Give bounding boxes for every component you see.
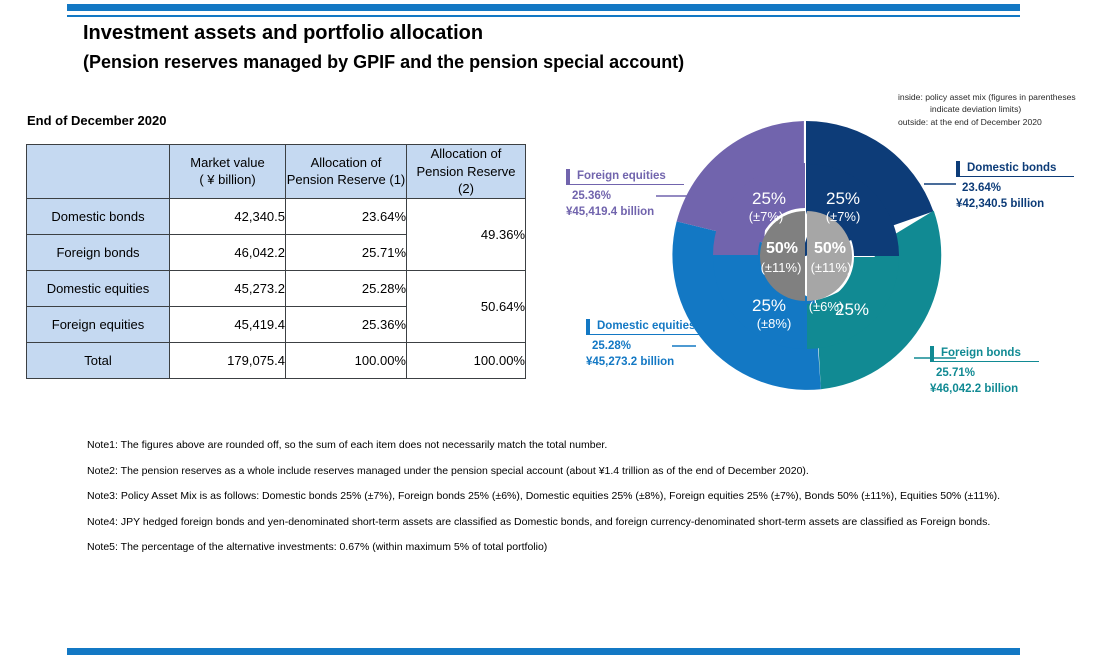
row-label-domestic-equities: Domestic equities	[27, 270, 170, 306]
notes-block: Note1: The figures above are rounded off…	[87, 440, 1000, 568]
note-4: Note4: JPY hedged foreign bonds and yen-…	[87, 517, 1000, 528]
inner-label-equities-dev: (±11%)	[761, 260, 802, 275]
cell-alloc1-foreign-equities: 25.36%	[286, 306, 407, 342]
middle-label-domestic-bonds-pct: 25%	[826, 189, 860, 208]
inner-label-bonds-dev: (±11%)	[811, 260, 852, 275]
table-row-total: Total 179,075.4 100.00% 100.00%	[27, 342, 526, 378]
column-header-allocation-1-line1: Allocation of	[286, 154, 406, 172]
callout-domestic-bonds-amount: ¥42,340.5 billion	[956, 198, 1102, 210]
table-row: Domestic equities 45,273.2 25.28% 50.64%	[27, 270, 526, 306]
column-header-blank	[27, 145, 170, 199]
callout-domestic-bonds-title: Domestic bonds	[960, 161, 1056, 176]
callout-foreign-equities-amount: ¥45,419.4 billion	[566, 206, 706, 218]
column-header-allocation-2: Allocation of Pension Reserve (2)	[407, 145, 526, 199]
page-subtitle: (Pension reserves managed by GPIF and th…	[83, 52, 684, 73]
callout-foreign-bonds: Foreign bonds 25.71% ¥46,042.2 billion	[930, 343, 1080, 395]
column-header-allocation-2-line2: Pension Reserve (2)	[407, 163, 525, 198]
inner-label-bonds-pct: 50%	[814, 240, 846, 257]
middle-label-foreign-equities-dev: (±7%)	[749, 209, 784, 224]
callout-domestic-equities: Domestic equities 25.28% ¥45,273.2 billi…	[586, 316, 741, 368]
callout-domestic-equities-title-box: Domestic equities	[586, 319, 713, 335]
column-header-market-value-line1: Market value	[170, 154, 285, 172]
callout-foreign-bonds-title: Foreign bonds	[934, 346, 1021, 361]
note-5: Note5: The percentage of the alternative…	[87, 542, 1000, 553]
callout-domestic-bonds: Domestic bonds 23.64% ¥42,340.5 billion	[956, 158, 1102, 210]
middle-label-domestic-equities-pct: 25%	[752, 296, 786, 315]
as-of-date-label: End of December 2020	[27, 113, 166, 128]
column-header-allocation-1-line2: Pension Reserve (1)	[286, 171, 406, 189]
callout-foreign-bonds-title-box: Foreign bonds	[930, 346, 1039, 362]
cell-market-value-domestic-bonds: 42,340.5	[170, 198, 286, 234]
cell-alloc1-total: 100.00%	[286, 342, 407, 378]
middle-label-foreign-bonds-dev: (±6%)	[809, 299, 844, 314]
page-title: Investment assets and portfolio allocati…	[83, 22, 483, 45]
column-header-allocation-2-line1: Allocation of	[407, 145, 525, 163]
column-header-allocation-1: Allocation of Pension Reserve (1)	[286, 145, 407, 199]
cell-market-value-total: 179,075.4	[170, 342, 286, 378]
table-row: Domestic bonds 42,340.5 23.64% 49.36%	[27, 198, 526, 234]
middle-label-foreign-equities-pct: 25%	[752, 189, 786, 208]
callout-domestic-bonds-title-box: Domestic bonds	[956, 161, 1074, 177]
donut-chart-region: inside: policy asset mix (figures in par…	[556, 88, 1102, 408]
cell-market-value-domestic-equities: 45,273.2	[170, 270, 286, 306]
row-label-foreign-equities: Foreign equities	[27, 306, 170, 342]
note-2: Note2: The pension reserves as a whole i…	[87, 466, 1000, 477]
footer-accent-bar	[67, 648, 1020, 655]
middle-label-domestic-equities-dev: (±8%)	[757, 316, 792, 331]
cell-alloc1-domestic-equities: 25.28%	[286, 270, 407, 306]
note-1: Note1: The figures above are rounded off…	[87, 440, 1000, 451]
middle-label-domestic-bonds-dev: (±7%)	[826, 209, 861, 224]
cell-market-value-foreign-bonds: 46,042.2	[170, 234, 286, 270]
callout-foreign-equities-title-box: Foreign equities	[566, 169, 684, 185]
header-accent-bar	[67, 4, 1020, 11]
inner-label-equities-pct: 50%	[766, 240, 798, 257]
row-label-foreign-bonds: Foreign bonds	[27, 234, 170, 270]
callout-foreign-bonds-pct: 25.71%	[930, 367, 1080, 379]
cell-alloc2-bonds: 49.36%	[407, 198, 526, 270]
callout-foreign-equities-title: Foreign equities	[570, 169, 666, 184]
callout-domestic-equities-title: Domestic equities	[590, 319, 695, 334]
cell-market-value-foreign-equities: 45,419.4	[170, 306, 286, 342]
callout-domestic-equities-amount: ¥45,273.2 billion	[586, 356, 741, 368]
column-header-market-value: Market value ( ¥ billion)	[170, 145, 286, 199]
cell-alloc2-equities: 50.64%	[407, 270, 526, 342]
row-label-total: Total	[27, 342, 170, 378]
row-label-domestic-bonds: Domestic bonds	[27, 198, 170, 234]
callout-foreign-equities-pct: 25.36%	[566, 190, 706, 202]
cell-alloc2-total: 100.00%	[407, 342, 526, 378]
column-header-market-value-line2: ( ¥ billion)	[170, 171, 285, 189]
callout-domestic-bonds-pct: 23.64%	[956, 182, 1102, 194]
cell-alloc1-foreign-bonds: 25.71%	[286, 234, 407, 270]
note-3: Note3: Policy Asset Mix is as follows: D…	[87, 491, 1000, 502]
callout-foreign-bonds-amount: ¥46,042.2 billion	[930, 383, 1080, 395]
callout-foreign-equities: Foreign equities 25.36% ¥45,419.4 billio…	[566, 166, 706, 218]
table-header-row: Market value ( ¥ billion) Allocation of …	[27, 145, 526, 199]
cell-alloc1-domestic-bonds: 23.64%	[286, 198, 407, 234]
allocation-table: Market value ( ¥ billion) Allocation of …	[26, 144, 526, 379]
header-accent-line	[67, 15, 1020, 17]
callout-domestic-equities-pct: 25.28%	[586, 340, 741, 352]
chart-legend-line1: inside: policy asset mix (figures in par…	[898, 92, 1076, 102]
